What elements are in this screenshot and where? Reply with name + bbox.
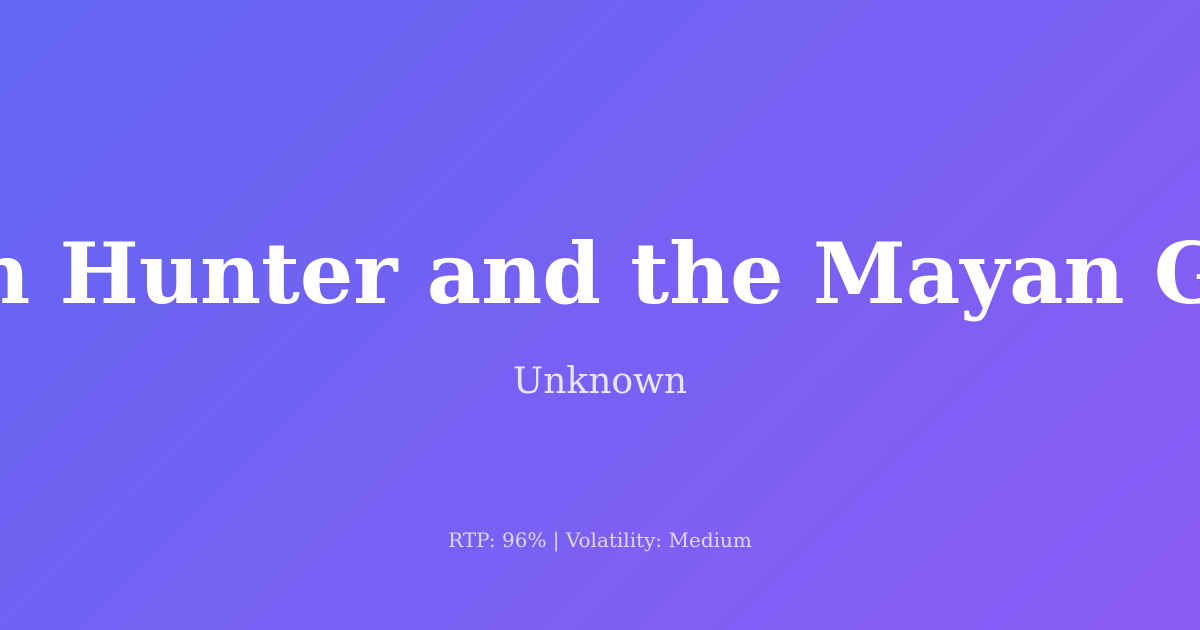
page-title: John Hunter and the Mayan Gods bbox=[0, 232, 1200, 316]
banner-subtitle: Unknown bbox=[0, 364, 1200, 400]
game-banner-card: John Hunter and the Mayan Gods Unknown R… bbox=[0, 0, 1200, 630]
banner-meta-line: RTP: 96% | Volatility: Medium bbox=[0, 530, 1200, 550]
banner-title-row: John Hunter and the Mayan Gods bbox=[0, 232, 1200, 316]
